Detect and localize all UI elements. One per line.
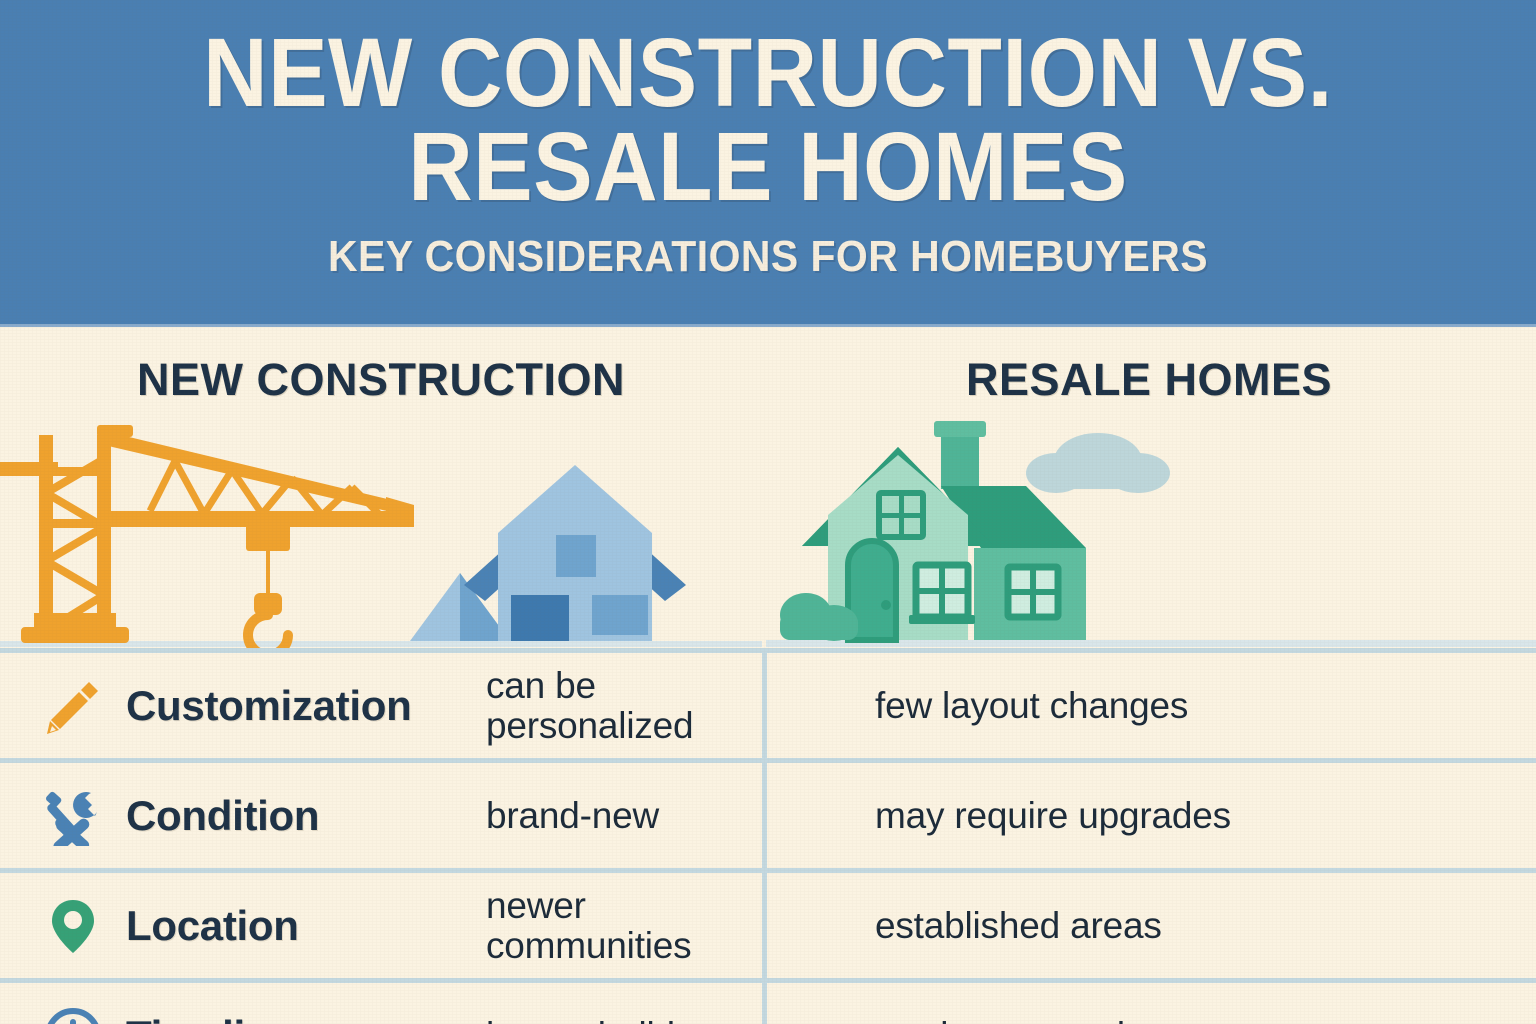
page-subtitle: KEY CONSIDERATIONS FOR HOMEBUYERS	[54, 232, 1482, 282]
page-title: NEW CONSTRUCTION VS. RESALE HOMES	[61, 26, 1474, 214]
map-pin-icon	[42, 895, 104, 957]
cell-new-construction: Location newer communities	[0, 873, 762, 978]
cell-resale: ready to move in	[762, 983, 1536, 1024]
table-row: Timeline longer build ready to move in	[0, 978, 1536, 1024]
cell-resale: few layout changes	[762, 653, 1536, 758]
comparison-table: Customization can be personalized few la…	[0, 648, 1536, 1024]
main-window	[909, 565, 975, 624]
column-heading-resale-homes: RESALE HOMES	[762, 330, 1536, 415]
side-window	[1008, 567, 1058, 617]
infographic-canvas: NEW CONSTRUCTION VS. RESALE HOMES KEY CO…	[0, 0, 1536, 1024]
row-label: Customization	[126, 682, 486, 730]
clock-icon	[42, 1005, 104, 1024]
attic-window	[879, 493, 923, 537]
table-row: Customization can be personalized few la…	[0, 648, 1536, 758]
illustration-band	[0, 415, 1536, 648]
row-value-resale: ready to move in	[875, 1016, 1536, 1024]
header-banner: NEW CONSTRUCTION VS. RESALE HOMES KEY CO…	[0, 0, 1536, 327]
table-row: Location newer communities established a…	[0, 868, 1536, 978]
row-label: Location	[126, 902, 486, 950]
column-headings: NEW CONSTRUCTION RESALE HOMES	[0, 330, 1536, 415]
crane-and-new-house-illustration	[0, 415, 762, 648]
cell-new-construction: Timeline longer build	[0, 983, 762, 1024]
row-value-new-construction: can be personalized	[486, 666, 762, 745]
column-heading-new-construction: NEW CONSTRUCTION	[0, 330, 762, 415]
cloud-shape	[1026, 433, 1170, 493]
row-value-new-construction: longer build	[486, 1016, 762, 1024]
cell-resale: established areas	[762, 873, 1536, 978]
pencil-icon	[42, 675, 104, 737]
row-label: Timeline	[126, 1012, 486, 1024]
row-value-resale: may require upgrades	[875, 796, 1536, 836]
column-heading-label: NEW CONSTRUCTION	[137, 354, 625, 406]
row-value-new-construction: brand-new	[486, 796, 762, 836]
row-value-resale: few layout changes	[875, 686, 1536, 726]
table-row: Condition brand-new may require upgrades	[0, 758, 1536, 868]
row-value-new-construction: newer communities	[486, 886, 762, 965]
resale-house-illustration	[766, 415, 1536, 648]
tools-icon	[42, 785, 104, 847]
cell-new-construction: Condition brand-new	[0, 763, 762, 868]
cell-resale: may require upgrades	[762, 763, 1536, 868]
column-heading-label: RESALE HOMES	[966, 354, 1332, 406]
row-label: Condition	[126, 792, 486, 840]
cell-new-construction: Customization can be personalized	[0, 653, 762, 758]
row-value-resale: established areas	[875, 906, 1536, 946]
